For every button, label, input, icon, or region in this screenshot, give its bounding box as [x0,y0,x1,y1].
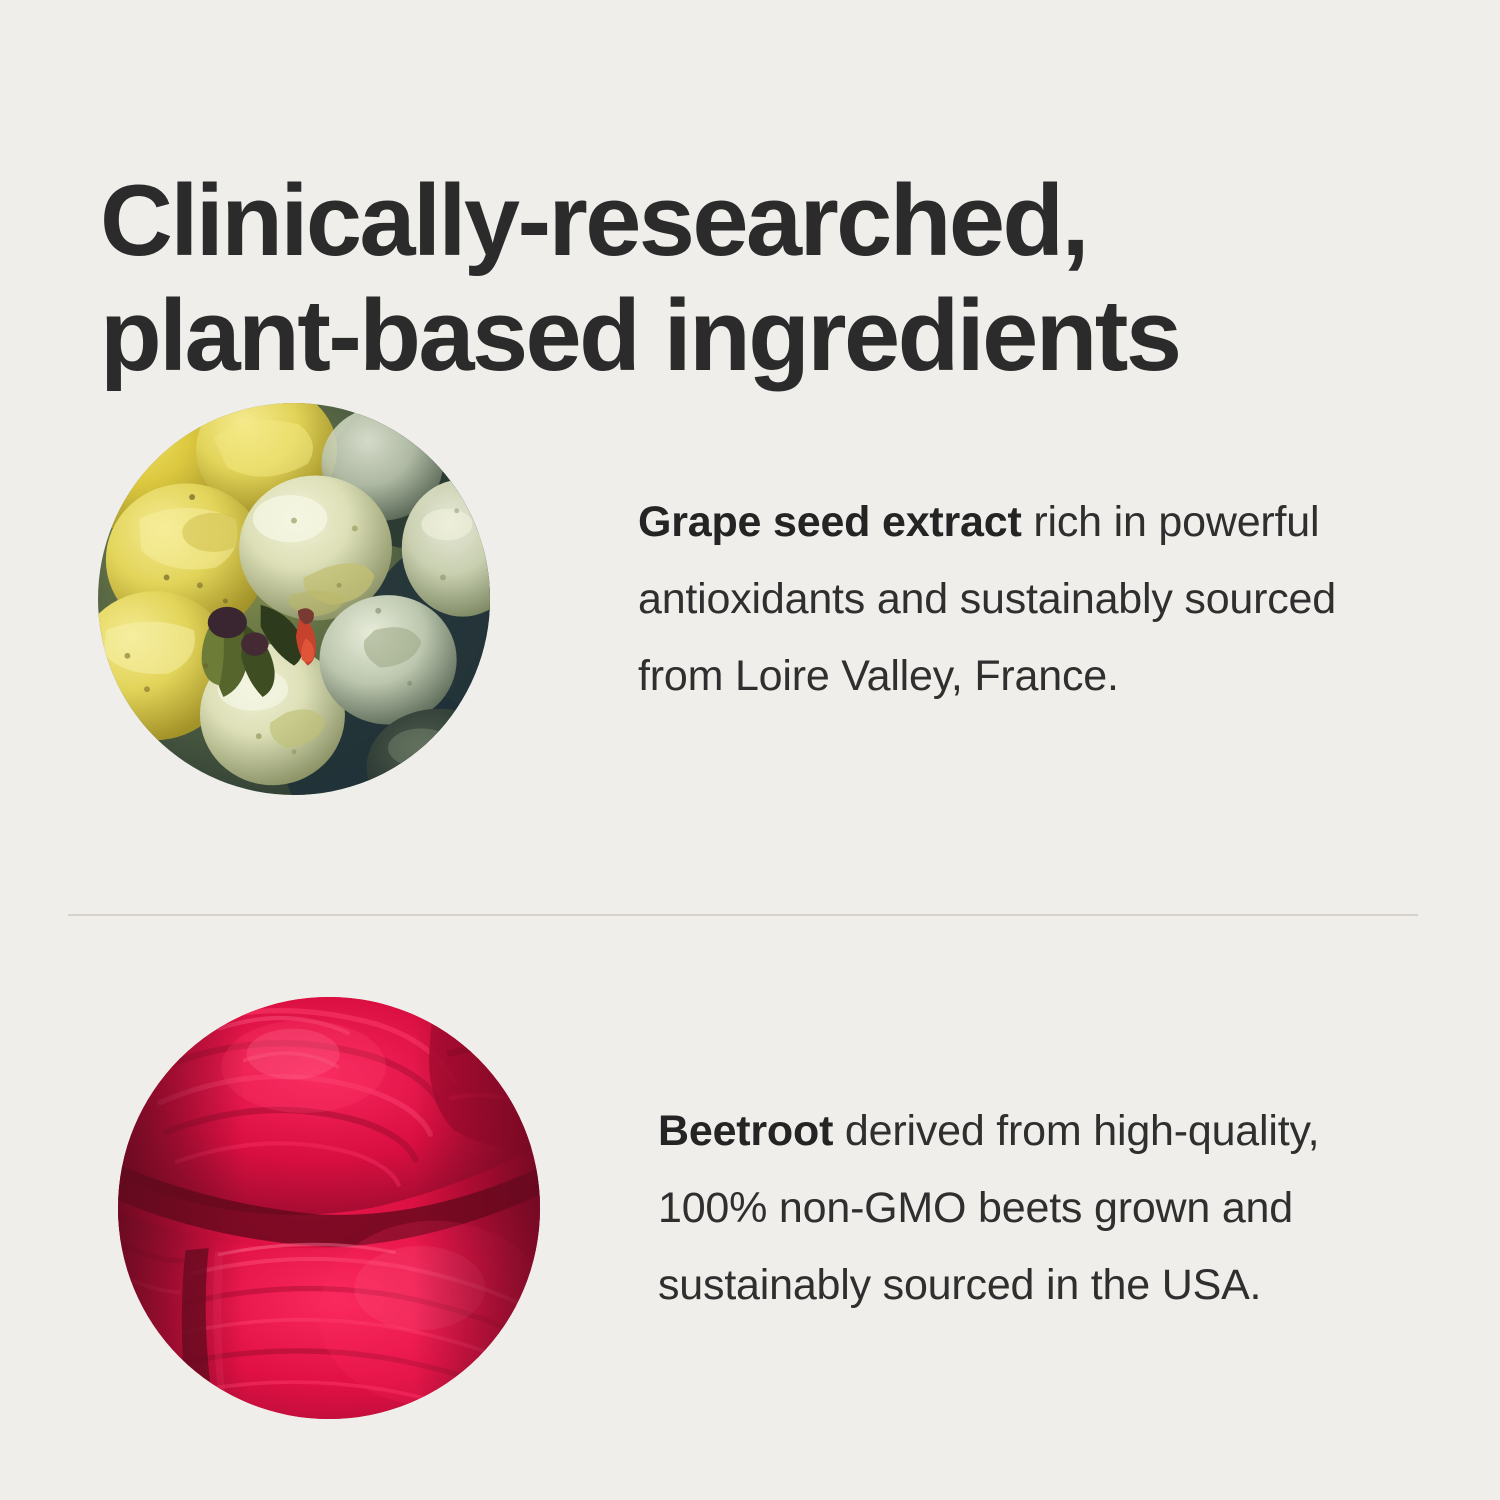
section-divider [68,914,1418,916]
beetroot-photo [118,997,540,1419]
ingredient-name-grape-seed-extract: Grape seed extract [638,498,1022,546]
beetroot-thumbnail-wrap [118,997,540,1419]
ingredient-name-beetroot: Beetroot [658,1107,833,1155]
ingredient-description-beetroot: Beetroot derived from high-quality, 100%… [658,1093,1418,1324]
ingredient-row-beetroot: Beetroot derived from high-quality, 100%… [0,998,1500,1418]
green-grapes-photo [98,403,490,795]
ingredients-panel: Clinically-researched, plant-based ingre… [0,0,1500,1500]
ingredient-row-grape-seed-extract: Grape seed extract rich in powerful anti… [0,404,1500,794]
grape-thumbnail-wrap [98,403,490,795]
ingredient-description-grape-seed-extract: Grape seed extract rich in powerful anti… [638,484,1338,715]
page-title: Clinically-researched, plant-based ingre… [100,164,1430,394]
